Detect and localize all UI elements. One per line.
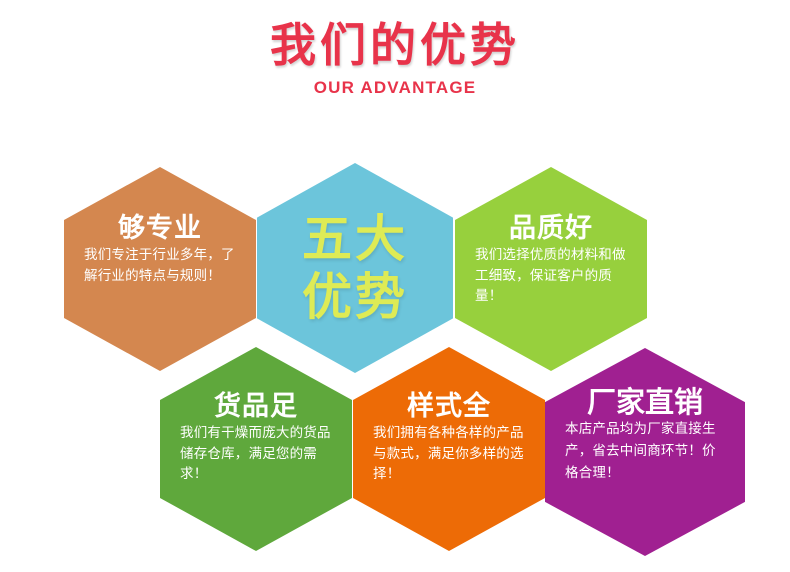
hex-card-pro-heading: 够专业 [118, 213, 202, 245]
page-title: 我们的优势 [0, 18, 790, 72]
hex-card-quality: 品质好 我们选择优质的材料和做工细致，保证客户的质量！ [455, 167, 647, 371]
hex-card-factory-heading: 厂家直销 [587, 386, 703, 418]
hex-card-center: 五大 优势 [257, 163, 453, 373]
page-subtitle: OUR ADVANTAGE [0, 78, 790, 98]
hex-card-styles-body: 我们拥有各种各样的产品与款式，满足你多样的选择！ [371, 423, 527, 485]
hex-card-quality-body: 我们选择优质的材料和做工细致，保证客户的质量！ [473, 245, 629, 307]
hex-card-factory: 厂家直销 本店产品均为厂家直接生产，省去中间商环节！价格合理！ [545, 348, 745, 556]
hex-card-styles: 样式全 我们拥有各种各样的产品与款式，满足你多样的选择！ [353, 347, 545, 551]
advantage-infographic: 我们的优势 OUR ADVANTAGE 够专业 我们专注于行业多年，了解行业的特… [0, 0, 790, 572]
hex-card-quality-heading: 品质好 [509, 213, 593, 245]
hex-card-stock: 货品足 我们有干燥而庞大的货品储存仓库，满足您的需求！ [160, 347, 352, 551]
hex-card-center-heading-line2: 优势 [302, 268, 408, 326]
hex-card-pro-body: 我们专注于行业多年，了解行业的特点与规则！ [82, 245, 238, 286]
hex-card-stock-heading: 货品足 [214, 391, 298, 423]
hex-card-stock-body: 我们有干燥而庞大的货品储存仓库，满足您的需求！ [178, 423, 334, 485]
hex-card-factory-body: 本店产品均为厂家直接生产，省去中间商环节！价格合理！ [563, 418, 727, 484]
hex-card-styles-heading: 样式全 [407, 391, 491, 423]
header-block: 我们的优势 OUR ADVANTAGE [0, 18, 790, 98]
hex-card-pro: 够专业 我们专注于行业多年，了解行业的特点与规则！ [64, 167, 256, 371]
hex-card-center-heading-line1: 五大 [302, 210, 408, 268]
